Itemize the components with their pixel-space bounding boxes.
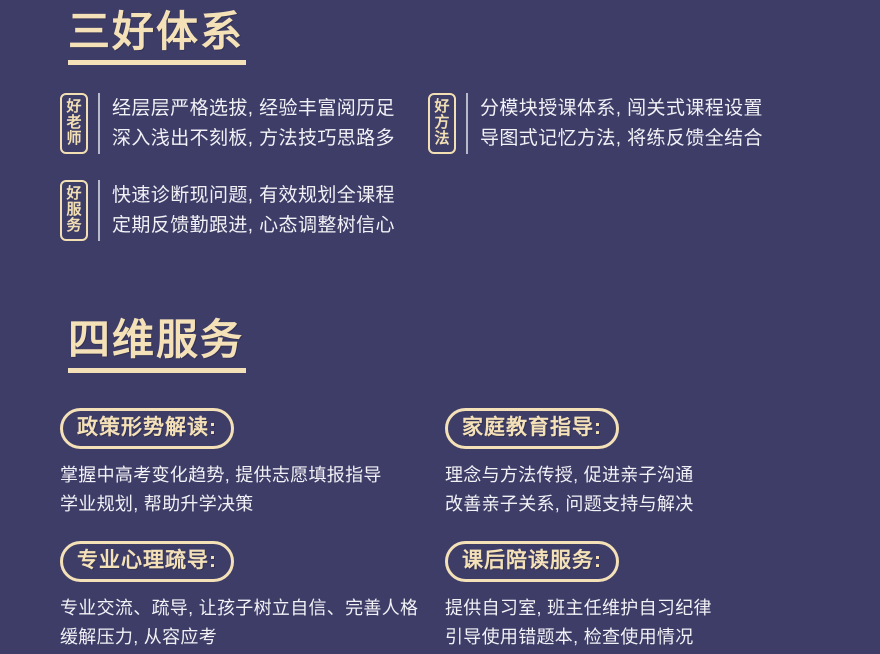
service-line: 缓解压力, 从容应考 <box>60 623 460 652</box>
service-pill-psychology: 专业心理疏导: <box>60 541 234 582</box>
badge-char: 好 <box>62 186 86 202</box>
badge-char: 服 <box>62 202 86 218</box>
feature-line: 分模块授课体系, 闯关式课程设置 <box>480 94 763 123</box>
feature-text-service: 快速诊断现问题, 有效规划全课程 定期反馈勤跟进, 心态调整树信心 <box>112 181 395 240</box>
feature-line: 导图式记忆方法, 将练反馈全结合 <box>480 124 763 153</box>
section-title-text: 三好体系 <box>68 10 246 54</box>
feature-line: 定期反馈勤跟进, 心态调整树信心 <box>112 211 395 240</box>
badge-char: 方 <box>430 115 454 131</box>
service-line: 理念与方法传授, 促进亲子沟通 <box>445 461 845 490</box>
feature-item-service: 好 服 务 快速诊断现问题, 有效规划全课程 定期反馈勤跟进, 心态调整树信心 <box>60 180 395 241</box>
service-line: 提供自习室, 班主任维护自习纪律 <box>445 594 845 623</box>
section-heading-siwei: 四维服务 <box>68 318 246 373</box>
feature-line: 经层层严格选拔, 经验丰富阅历足 <box>112 94 395 123</box>
feature-badge-service: 好 服 务 <box>60 180 88 241</box>
service-description-psychology: 专业交流、疏导, 让孩子树立自信、完善人格 缓解压力, 从容应考 <box>60 594 460 652</box>
service-item-family: 家庭教育指导: 理念与方法传授, 促进亲子沟通 改善亲子关系, 问题支持与解决 <box>445 408 845 519</box>
badge-char: 老 <box>62 115 86 131</box>
feature-line: 深入浅出不刻板, 方法技巧思路多 <box>112 124 395 153</box>
service-item-policy: 政策形势解读: 掌握中高考变化趋势, 提供志愿填报指导 学业规划, 帮助升学决策 <box>60 408 460 519</box>
service-line: 专业交流、疏导, 让孩子树立自信、完善人格 <box>60 594 460 623</box>
vertical-divider <box>98 180 100 241</box>
service-pill-tutoring: 课后陪读服务: <box>445 541 619 582</box>
promo-poster: 三好体系 好 老 师 经层层严格选拔, 经验丰富阅历足 深入浅出不刻板, 方法技… <box>0 0 880 654</box>
service-description-tutoring: 提供自习室, 班主任维护自习纪律 引导使用错题本, 检查使用情况 <box>445 594 845 652</box>
service-line: 改善亲子关系, 问题支持与解决 <box>445 490 845 519</box>
section-heading-sanhao: 三好体系 <box>68 10 246 65</box>
badge-char: 好 <box>62 99 86 115</box>
feature-badge-teacher: 好 老 师 <box>60 93 88 154</box>
service-pill-policy: 政策形势解读: <box>60 408 234 449</box>
service-item-psychology: 专业心理疏导: 专业交流、疏导, 让孩子树立自信、完善人格 缓解压力, 从容应考 <box>60 541 460 652</box>
vertical-divider <box>466 93 468 154</box>
feature-line: 快速诊断现问题, 有效规划全课程 <box>112 181 395 210</box>
section-title-text: 四维服务 <box>68 318 246 362</box>
badge-char: 好 <box>430 99 454 115</box>
service-pill-label: 家庭教育指导: <box>462 416 602 439</box>
service-pill-label: 政策形势解读: <box>77 416 217 439</box>
service-item-tutoring: 课后陪读服务: 提供自习室, 班主任维护自习纪律 引导使用错题本, 检查使用情况 <box>445 541 845 652</box>
badge-char: 师 <box>62 131 86 147</box>
service-line: 引导使用错题本, 检查使用情况 <box>445 623 845 652</box>
section-title-underline <box>68 60 246 65</box>
service-description-family: 理念与方法传授, 促进亲子沟通 改善亲子关系, 问题支持与解决 <box>445 461 845 519</box>
feature-item-teacher: 好 老 师 经层层严格选拔, 经验丰富阅历足 深入浅出不刻板, 方法技巧思路多 <box>60 93 395 154</box>
feature-badge-method: 好 方 法 <box>428 93 456 154</box>
badge-char: 务 <box>62 218 86 234</box>
feature-item-method: 好 方 法 分模块授课体系, 闯关式课程设置 导图式记忆方法, 将练反馈全结合 <box>428 93 763 154</box>
service-pill-family: 家庭教育指导: <box>445 408 619 449</box>
badge-char: 法 <box>430 131 454 147</box>
service-pill-label: 专业心理疏导: <box>77 549 217 572</box>
service-line: 学业规划, 帮助升学决策 <box>60 490 460 519</box>
feature-text-teacher: 经层层严格选拔, 经验丰富阅历足 深入浅出不刻板, 方法技巧思路多 <box>112 94 395 153</box>
service-pill-label: 课后陪读服务: <box>462 549 602 572</box>
section-title-underline <box>68 368 246 373</box>
service-line: 掌握中高考变化趋势, 提供志愿填报指导 <box>60 461 460 490</box>
feature-text-method: 分模块授课体系, 闯关式课程设置 导图式记忆方法, 将练反馈全结合 <box>480 94 763 153</box>
vertical-divider <box>98 93 100 154</box>
service-description-policy: 掌握中高考变化趋势, 提供志愿填报指导 学业规划, 帮助升学决策 <box>60 461 460 519</box>
